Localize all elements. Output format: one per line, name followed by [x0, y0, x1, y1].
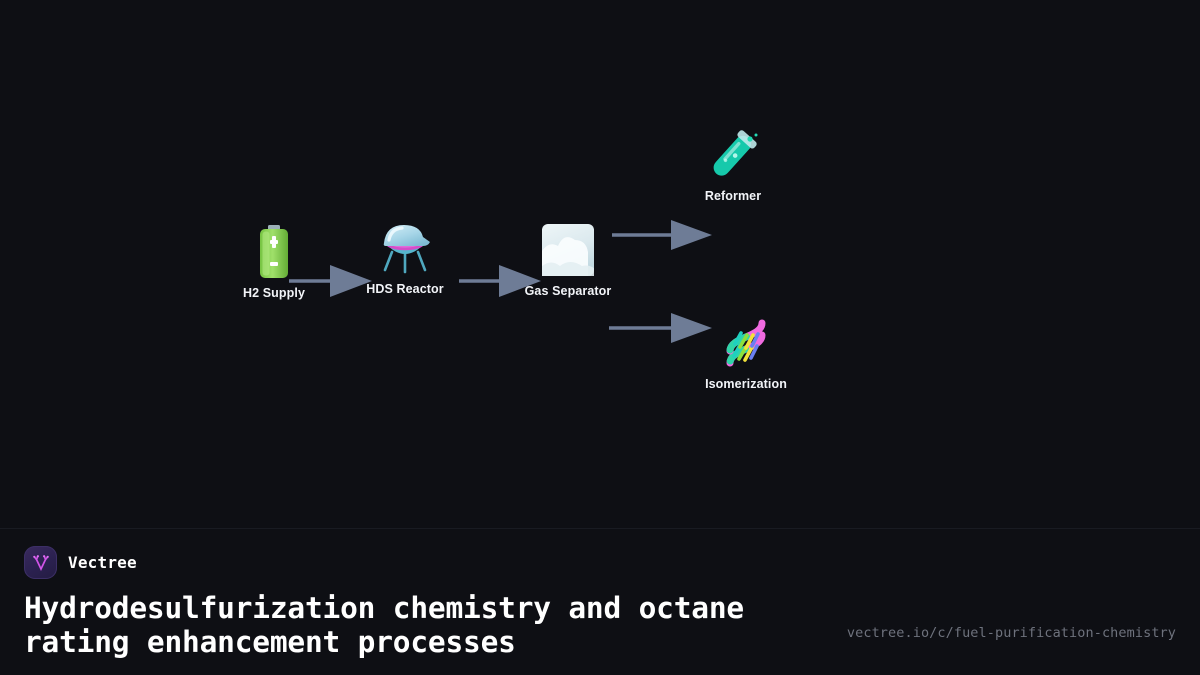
diagram-node-hds-reactor[interactable]: HDS Reactor	[330, 220, 480, 296]
cloud-icon	[540, 222, 596, 278]
diagram-node-reformer[interactable]: Reformer	[658, 127, 808, 203]
diagram-node-gas-separator[interactable]: Gas Separator	[493, 222, 643, 298]
diagram-node-label: HDS Reactor	[366, 282, 444, 296]
diagram-node-label: Reformer	[705, 189, 761, 203]
diagram-node-label: Gas Separator	[525, 284, 612, 298]
site-url: vectree.io/c/fuel-purification-chemistry	[847, 625, 1176, 641]
dna-helix-icon	[718, 315, 774, 371]
brand-name: Vectree	[68, 553, 137, 572]
page-title: Hydrodesulfurization chemistry and octan…	[24, 591, 834, 659]
battery-icon	[246, 224, 302, 280]
diagram-node-h2-supply[interactable]: H2 Supply	[199, 224, 349, 300]
diagram-node-isomerization[interactable]: Isomerization	[671, 315, 821, 391]
vectree-logo-icon	[24, 546, 57, 579]
slide-root: H2 Supply	[0, 0, 1200, 675]
process-flow-diagram: H2 Supply	[0, 0, 1200, 528]
test-tube-icon	[705, 127, 761, 183]
reactor-icon	[377, 220, 433, 276]
diagram-node-label: H2 Supply	[243, 286, 305, 300]
diagram-node-label: Isomerization	[705, 377, 787, 391]
footer-bar: Vectree Hydrodesulfurization chemistry a…	[0, 528, 1200, 675]
brand: Vectree	[24, 546, 137, 579]
